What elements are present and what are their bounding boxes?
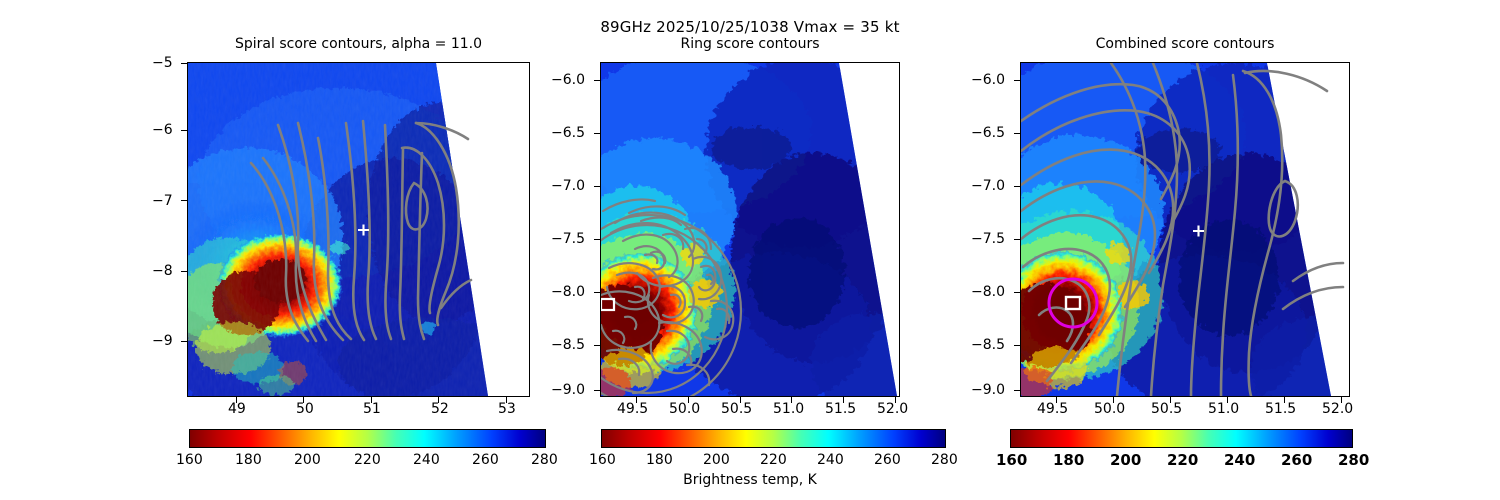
cbtick-spiral-0: 160 (176, 452, 203, 468)
xtickmark-combined-2 (1170, 397, 1171, 403)
ytick-combined-1: −6.5 (971, 125, 1005, 141)
ytickmark-ring-1 (594, 133, 600, 134)
xtick-spiral-4: 53 (498, 401, 516, 417)
ytickmark-ring-2 (594, 186, 600, 187)
xtick-ring-3: 51.0 (773, 401, 804, 417)
xtickmark-combined-5 (1341, 397, 1342, 403)
colorbar-axis-label: Brightness temp, K (600, 472, 900, 488)
panel-combined-title: Combined score contours (1020, 36, 1350, 52)
cbtick-spiral-3: 220 (354, 452, 381, 468)
cbtick-spiral-4: 240 (413, 452, 440, 468)
ytick-combined-6: −9.0 (971, 382, 1005, 398)
colorbar-combined-gradient (1010, 429, 1353, 448)
xtickmark-spiral-3 (438, 397, 439, 403)
cbtick-ring-1: 180 (646, 452, 673, 468)
xtick-combined-0: 49.5 (1037, 401, 1068, 417)
ytick-combined-0: −6.0 (971, 72, 1005, 88)
cbtick-combined-3: 220 (1167, 451, 1198, 469)
ytick-ring-0: −6.0 (551, 72, 585, 88)
panel-ring-image (601, 63, 899, 396)
xtick-combined-1: 50.0 (1094, 401, 1125, 417)
cbtick-spiral-6: 280 (531, 452, 558, 468)
panel-combined-image (1021, 63, 1349, 396)
xtick-ring-2: 50.5 (721, 401, 752, 417)
cbtick-ring-6: 280 (931, 452, 958, 468)
xtickmark-spiral-0 (236, 397, 237, 403)
ytickmark-combined-2 (1014, 186, 1020, 187)
ytickmark-ring-3 (594, 239, 600, 240)
ytick-ring-4: −8.0 (551, 284, 585, 300)
xtickmark-spiral-1 (303, 397, 304, 403)
ytick-spiral-1: −6 (152, 122, 173, 138)
ytick-combined-5: −8.5 (971, 337, 1005, 353)
panel-ring-axes[interactable] (600, 62, 900, 397)
ytickmark-spiral-1 (181, 130, 187, 131)
ytick-spiral-0: −5 (152, 55, 173, 71)
ytickmark-ring-6 (594, 390, 600, 391)
ytickmark-ring-0 (594, 80, 600, 81)
xtick-spiral-0: 49 (228, 401, 246, 417)
xtickmark-combined-0 (1056, 397, 1057, 403)
ytick-spiral-3: −8 (152, 263, 173, 279)
xtickmark-ring-0 (636, 397, 637, 403)
ytickmark-spiral-2 (181, 200, 187, 201)
colorbar-spiral-gradient (189, 429, 546, 448)
cbtick-combined-2: 200 (1110, 451, 1141, 469)
xtick-combined-4: 51.5 (1265, 401, 1296, 417)
xtick-combined-5: 52.0 (1322, 401, 1353, 417)
xtickmark-combined-1 (1113, 397, 1114, 403)
cbtick-ring-3: 220 (760, 452, 787, 468)
xtick-spiral-2: 51 (363, 401, 381, 417)
cbtick-combined-4: 240 (1224, 451, 1255, 469)
xtick-ring-4: 51.5 (825, 401, 856, 417)
xtick-spiral-3: 52 (431, 401, 449, 417)
ytickmark-combined-1 (1014, 133, 1020, 134)
figure-suptitle: 89GHz 2025/10/25/1038 Vmax = 35 kt (0, 18, 1500, 36)
cbtick-ring-2: 200 (703, 452, 730, 468)
xtickmark-ring-5 (895, 397, 896, 403)
panel-spiral-title: Spiral score contours, alpha = 11.0 (187, 36, 530, 52)
cbtick-spiral-5: 260 (472, 452, 499, 468)
panel-ring-title: Ring score contours (600, 36, 900, 52)
cbtick-combined-0: 160 (996, 451, 1027, 469)
cbtick-ring-5: 260 (874, 452, 901, 468)
ytickmark-combined-4 (1014, 292, 1020, 293)
ytickmark-spiral-3 (181, 271, 187, 272)
xtick-ring-5: 52.0 (877, 401, 908, 417)
xtick-combined-3: 51.0 (1208, 401, 1239, 417)
cbtick-ring-4: 240 (817, 452, 844, 468)
cbtick-ring-0: 160 (589, 452, 616, 468)
ytick-combined-3: −7.5 (971, 231, 1005, 247)
xtickmark-spiral-2 (371, 397, 372, 403)
ytickmark-combined-3 (1014, 239, 1020, 240)
ytickmark-combined-0 (1014, 80, 1020, 81)
ytickmark-ring-5 (594, 345, 600, 346)
xtickmark-combined-4 (1284, 397, 1285, 403)
cbtick-combined-6: 280 (1338, 451, 1369, 469)
ytickmark-combined-6 (1014, 390, 1020, 391)
xtickmark-spiral-4 (506, 397, 507, 403)
figure-canvas: 89GHz 2025/10/25/1038 Vmax = 35 kt Spira… (0, 0, 1500, 500)
cbtick-spiral-2: 200 (294, 452, 321, 468)
ytick-ring-2: −7.0 (551, 178, 585, 194)
panel-spiral-image (188, 63, 529, 396)
cbtick-combined-5: 260 (1281, 451, 1312, 469)
xtick-spiral-1: 50 (296, 401, 314, 417)
ytick-ring-5: −8.5 (551, 337, 585, 353)
cbtick-spiral-1: 180 (235, 452, 262, 468)
panel-spiral-axes[interactable] (187, 62, 530, 397)
cbtick-combined-1: 180 (1053, 451, 1084, 469)
ytickmark-ring-4 (594, 292, 600, 293)
panel-combined-axes[interactable] (1020, 62, 1350, 397)
ytick-ring-3: −7.5 (551, 231, 585, 247)
xtickmark-ring-2 (740, 397, 741, 403)
xtick-ring-1: 50.0 (669, 401, 700, 417)
ytick-ring-1: −6.5 (551, 125, 585, 141)
ytickmark-combined-5 (1014, 345, 1020, 346)
ytickmark-spiral-4 (181, 341, 187, 342)
ytick-combined-2: −7.0 (971, 178, 1005, 194)
xtickmark-ring-4 (843, 397, 844, 403)
xtick-combined-2: 50.5 (1151, 401, 1182, 417)
ytick-spiral-2: −7 (152, 193, 173, 209)
xtickmark-combined-3 (1227, 397, 1228, 403)
xtick-ring-0: 49.5 (617, 401, 648, 417)
colorbar-ring-gradient (601, 429, 946, 448)
ytick-combined-4: −8.0 (971, 284, 1005, 300)
ytick-spiral-4: −9 (152, 333, 173, 349)
ytickmark-spiral-0 (181, 63, 187, 64)
ytick-ring-6: −9.0 (551, 382, 585, 398)
xtickmark-ring-3 (791, 397, 792, 403)
xtickmark-ring-1 (688, 397, 689, 403)
